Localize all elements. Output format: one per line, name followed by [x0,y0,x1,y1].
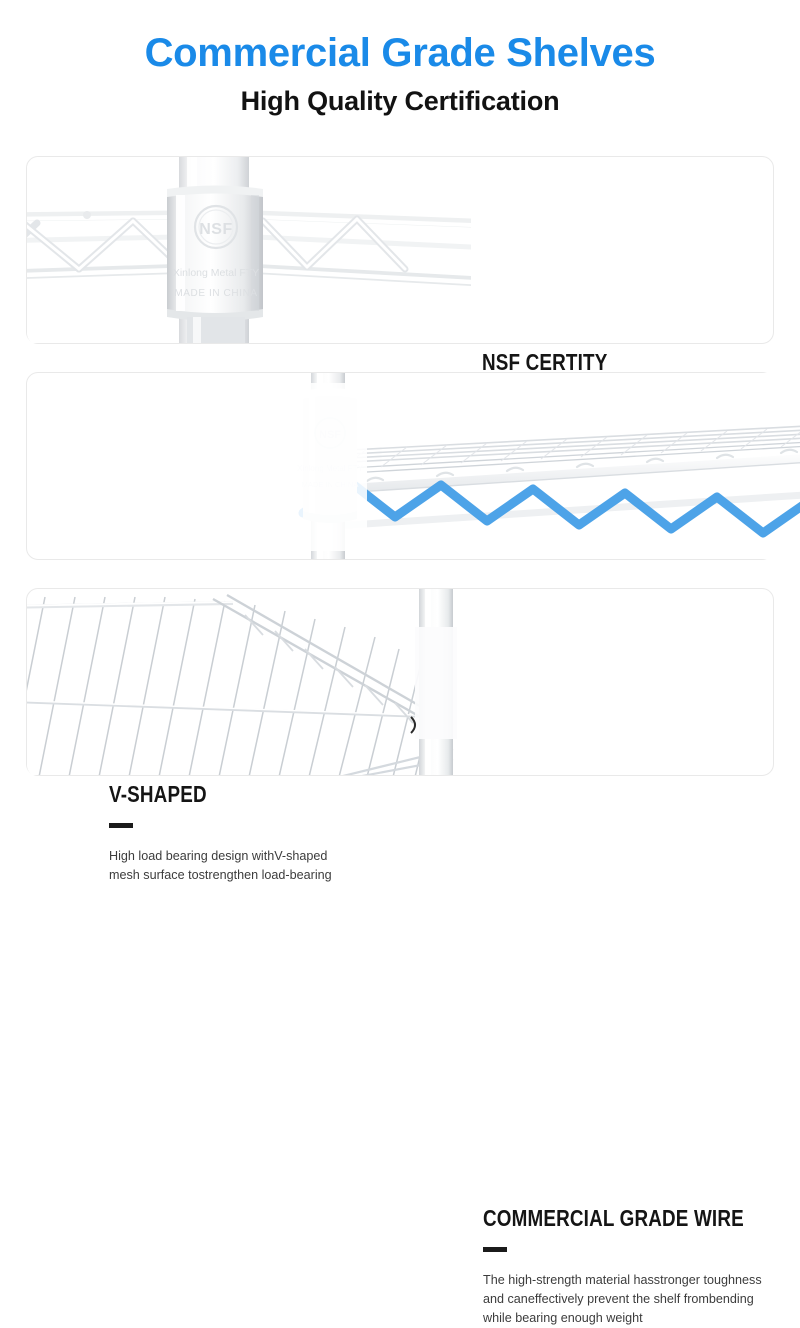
svg-text:NSF: NSF [319,429,341,441]
card-3-divider [483,1247,507,1252]
shelf-pole-collar-photo: NSF Xinlong Metal FTY MADE IN CHINA [1,157,471,343]
feature-card-commercial-grade-wire: COMMERCIAL GRADE WIRE The high-strength … [26,588,774,776]
card-2-body: High load bearing design withV-shaped me… [109,847,409,885]
wire-mesh-deck-photo [1,589,481,775]
page-title: Commercial Grade Shelves [0,0,800,75]
feature-card-nsf-certity: NSF Xinlong Metal FTY MADE IN CHINA NSF … [26,156,774,344]
card-2-text-block: V-SHAPED High load bearing design withV-… [109,781,409,885]
card-2-heading: V-SHAPED [109,781,355,807]
svg-text:Xinlong Metal FTY: Xinlong Metal FTY [297,464,363,473]
page-header: Commercial Grade Shelves High Quality Ce… [0,0,800,117]
page-subtitle: High Quality Certification [0,75,800,117]
card-3-text-block: COMMERCIAL GRADE WIRE The high-strength … [483,1205,788,1328]
svg-text:MADE IN CHINA: MADE IN CHINA [174,288,257,299]
svg-text:MADE IN CHINA: MADE IN CHINA [302,480,359,489]
v-shaped-mesh-shelf-photo: NSF Xinlong Metal FTY MADE IN CHINA [271,373,800,559]
tapered-lock-collar: NSF Xinlong Metal FTY MADE IN CHINA [167,186,263,344]
card-3-heading: COMMERCIAL GRADE WIRE [483,1205,733,1231]
svg-text:Xinlong Metal FTY: Xinlong Metal FTY [173,267,259,279]
card-2-divider [109,823,133,828]
blue-zigzag-overlay [303,481,800,533]
tapered-lock-collar-2: NSF Xinlong Metal FTY MADE IN CHINA [297,388,363,523]
svg-text:NSF: NSF [199,221,233,238]
card-2-text-scrim [67,383,367,551]
feature-card-v-shaped: NSF Xinlong Metal FTY MADE IN CHINA V-SH… [26,372,774,560]
card-3-body: The high-strength material hasstronger t… [483,1271,788,1328]
